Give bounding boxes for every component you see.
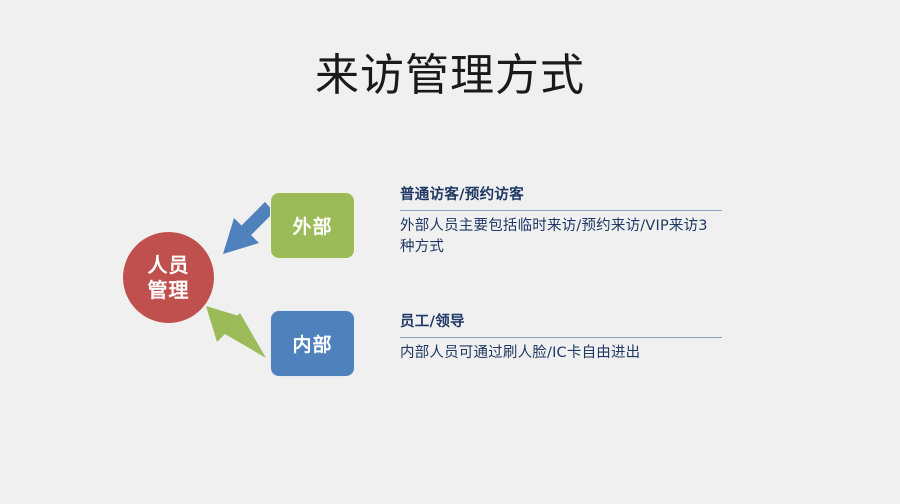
hub-label-line-1: 人员	[148, 253, 190, 277]
arrow-internal-to-hub-icon	[206, 306, 266, 358]
hub-label-line-2: 管理	[148, 278, 190, 302]
node-external[interactable]: 外部	[270, 192, 355, 259]
detail-body-external: 外部人员主要包括临时来访/预约来访/VIP来访3种方式	[400, 216, 722, 258]
detail-block-external: 普通访客/预约访客 外部人员主要包括临时来访/预约来访/VIP来访3种方式	[400, 186, 730, 258]
detail-body-internal: 内部人员可通过刷人脸/IC卡自由进出	[400, 343, 722, 364]
detail-rule-internal	[400, 337, 722, 338]
hub-node-personnel-management[interactable]: 人员 管理	[123, 232, 214, 323]
arrow-external-to-hub-icon	[223, 202, 274, 254]
node-internal[interactable]: 内部	[270, 310, 355, 377]
detail-heading-internal: 员工/领导	[400, 313, 730, 337]
detail-block-internal: 员工/领导 内部人员可通过刷人脸/IC卡自由进出	[400, 313, 730, 364]
slide-canvas: 来访管理方式 人员 管理 外部 内部 普通访客/预约访客	[0, 0, 900, 504]
detail-rule-external	[400, 210, 722, 211]
detail-heading-external: 普通访客/预约访客	[400, 186, 730, 210]
node-external-label: 外部	[292, 212, 332, 239]
node-internal-label: 内部	[292, 330, 332, 357]
